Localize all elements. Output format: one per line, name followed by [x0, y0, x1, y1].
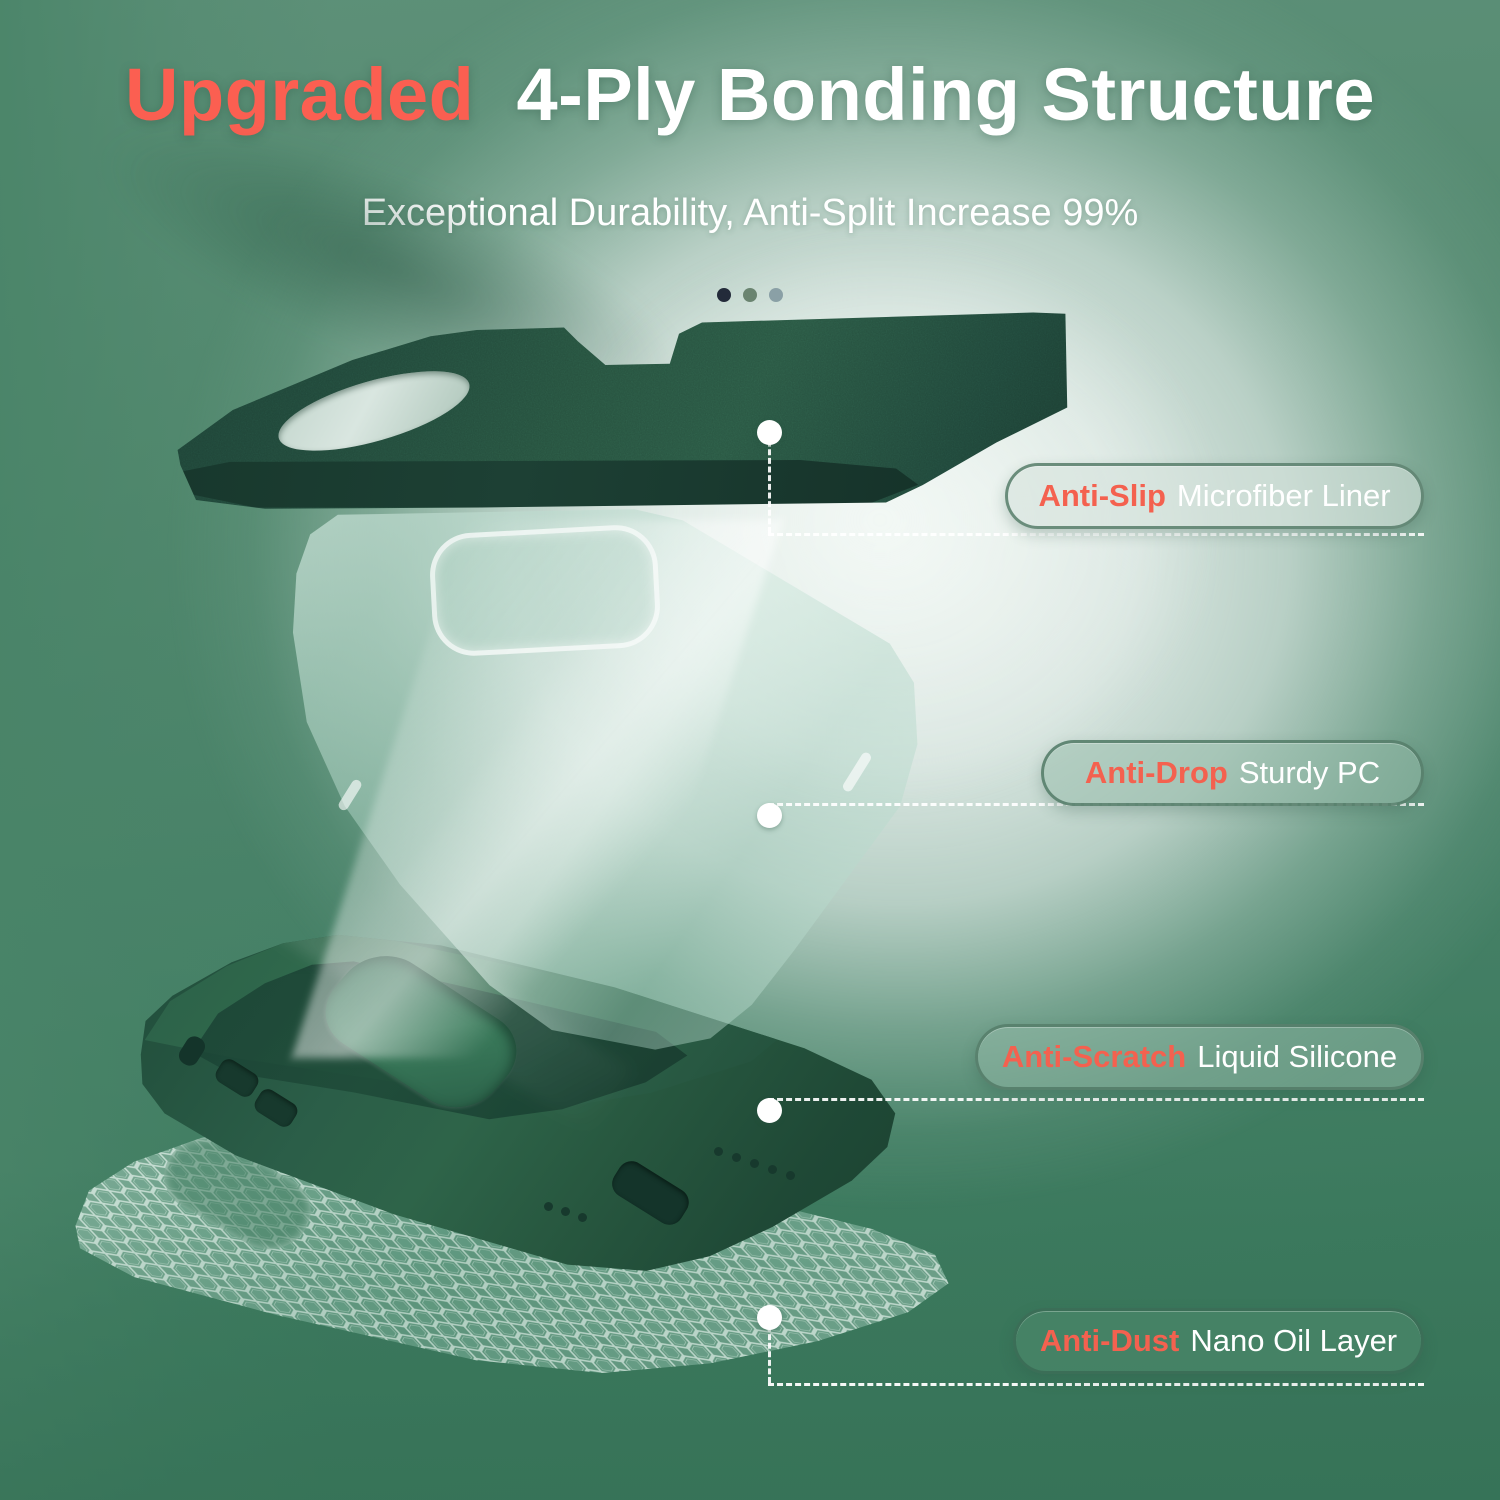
charging-port-cutout [607, 1156, 694, 1230]
callout-accent-liquid-silicone: Anti-Scratch [1002, 1039, 1186, 1075]
layer-microfiber-liner [150, 305, 1070, 555]
grille-hole [732, 1153, 741, 1162]
callout-pill-microfiber-liner[interactable]: Anti-SlipMicrofiber Liner [1005, 463, 1424, 529]
grille-hole [714, 1147, 723, 1156]
callout-text-liquid-silicone: Liquid Silicone [1197, 1039, 1397, 1075]
grille-hole [768, 1165, 777, 1174]
grille-hole [786, 1171, 795, 1180]
liner-body [150, 305, 1070, 555]
callout-accent-nano-oil: Anti-Dust [1040, 1323, 1179, 1359]
marker-dot-sturdy-pc[interactable] [757, 803, 782, 828]
marker-dot-nano-oil[interactable] [757, 1305, 782, 1330]
callout-text-sturdy-pc: Sturdy PC [1239, 755, 1380, 791]
marker-dot-microfiber-liner[interactable] [757, 420, 782, 445]
callout-accent-sturdy-pc: Anti-Drop [1085, 755, 1228, 791]
callout-pill-sturdy-pc[interactable]: Anti-DropSturdy PC [1041, 740, 1424, 806]
grille-hole [561, 1207, 570, 1216]
grille-hole [750, 1159, 759, 1168]
callout-text-nano-oil: Nano Oil Layer [1190, 1323, 1397, 1359]
layer-sturdy-pc [255, 498, 945, 1058]
marker-dot-liquid-silicone[interactable] [757, 1098, 782, 1123]
callout-text-microfiber-liner: Microfiber Liner [1177, 478, 1391, 514]
volume-down-button [252, 1085, 301, 1129]
leader-line-horizontal-liquid-silicone [768, 1098, 1424, 1101]
grille-hole [578, 1213, 587, 1222]
callout-pill-nano-oil[interactable]: Anti-DustNano Oil Layer [1013, 1308, 1424, 1374]
grille-hole [544, 1202, 553, 1211]
callout-pill-liquid-silicone[interactable]: Anti-ScratchLiquid Silicone [975, 1024, 1424, 1090]
title-rest: 4-Ply Bonding Structure [517, 53, 1375, 136]
infographic-canvas: Upgraded 4-Ply Bonding Structure Excepti… [0, 0, 1500, 1500]
leader-line-horizontal-microfiber-liner [768, 533, 1424, 536]
leader-line-horizontal-nano-oil [768, 1383, 1424, 1386]
callout-accent-microfiber-liner: Anti-Slip [1038, 478, 1165, 514]
leader-line-vertical-microfiber-liner [768, 432, 771, 533]
liner-folded-edge [182, 460, 918, 508]
